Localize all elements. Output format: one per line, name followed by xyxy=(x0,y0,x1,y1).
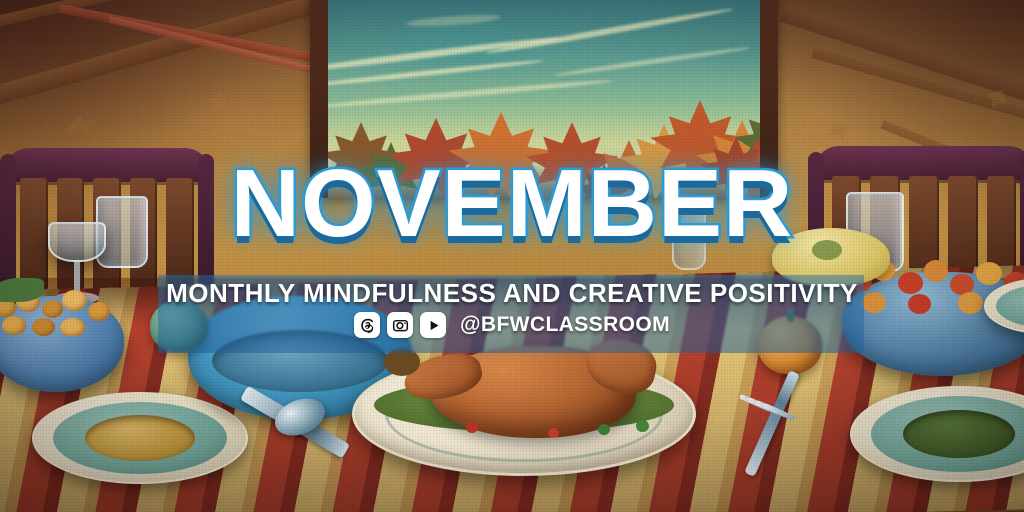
instagram-icon[interactable] xyxy=(387,312,413,338)
plate-contents-gravy xyxy=(85,415,195,461)
page-title: NOVEMBER xyxy=(0,156,1024,252)
gravy-plate-left xyxy=(32,392,248,484)
social-handle[interactable]: @BFWCLASSROOM xyxy=(460,313,670,337)
cranberry xyxy=(466,422,478,433)
threads-icon[interactable] xyxy=(354,312,380,338)
cloud xyxy=(328,78,613,110)
subtitle: MONTHLY MINDFULNESS AND CREATIVE POSITIV… xyxy=(0,278,1024,309)
cloud xyxy=(553,46,750,79)
plate-contents-green-sauce xyxy=(903,410,1014,458)
social-row: @BFWCLASSROOM xyxy=(0,312,1024,338)
herb-garnish xyxy=(636,420,649,432)
youtube-icon[interactable] xyxy=(420,312,446,338)
cloud xyxy=(485,6,733,55)
herb-garnish xyxy=(598,424,610,435)
cranberry xyxy=(548,428,559,438)
banner-canvas: NOVEMBER MONTHLY MINDFULNESS AND CREATIV… xyxy=(0,0,1024,512)
